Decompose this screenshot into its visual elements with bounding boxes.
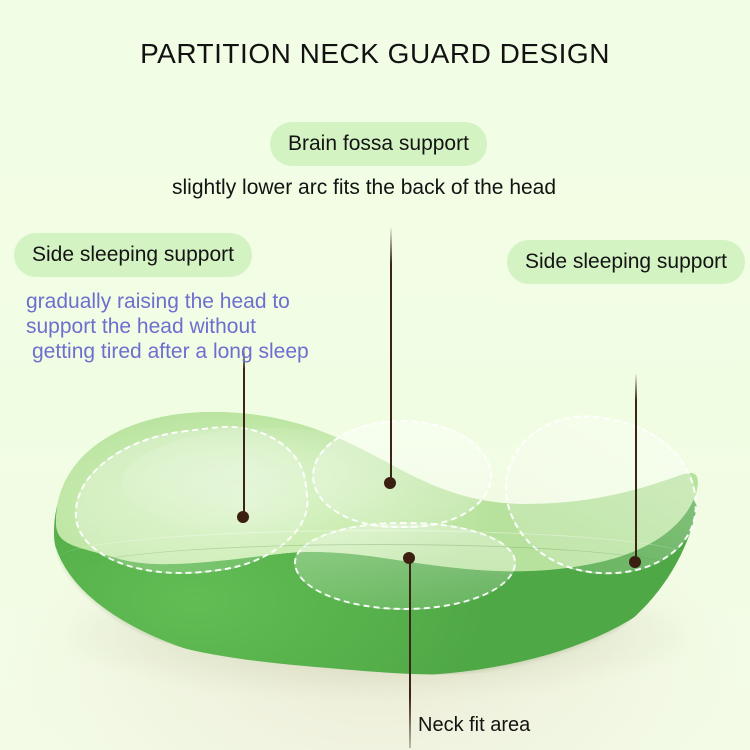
leader-line-brain-fossa xyxy=(390,228,392,485)
description-line-3: getting tired after a long sleep xyxy=(26,339,309,364)
description-line-1: gradually raising the head to xyxy=(26,289,309,314)
leader-dot-brain-fossa xyxy=(384,477,396,489)
description-side-sleeping: gradually raising the head to support th… xyxy=(26,289,309,364)
leader-line-side-left xyxy=(243,345,245,519)
label-side-sleeping-support-left: Side sleeping support xyxy=(14,233,252,277)
description-line-2: support the head without xyxy=(26,314,309,339)
caption-neck-fit-area: Neck fit area xyxy=(418,714,530,737)
leader-dot-neck-fit xyxy=(403,552,415,564)
leader-line-side-right xyxy=(635,374,637,564)
label-side-sleeping-support-right: Side sleeping support xyxy=(507,240,745,284)
product-infographic: PARTITION NECK GUARD DESIGN Brain fossa … xyxy=(0,0,750,750)
leader-line-neck-fit xyxy=(409,562,411,748)
brain-fossa-zone xyxy=(312,420,492,528)
pillow-illustration xyxy=(52,404,700,696)
caption-brain-fossa: slightly lower arc fits the back of the … xyxy=(172,176,556,200)
page-title: PARTITION NECK GUARD DESIGN xyxy=(0,38,750,70)
label-brain-fossa-support: Brain fossa support xyxy=(270,122,487,166)
leader-dot-side-left xyxy=(237,511,249,523)
leader-dot-side-right xyxy=(629,556,641,568)
